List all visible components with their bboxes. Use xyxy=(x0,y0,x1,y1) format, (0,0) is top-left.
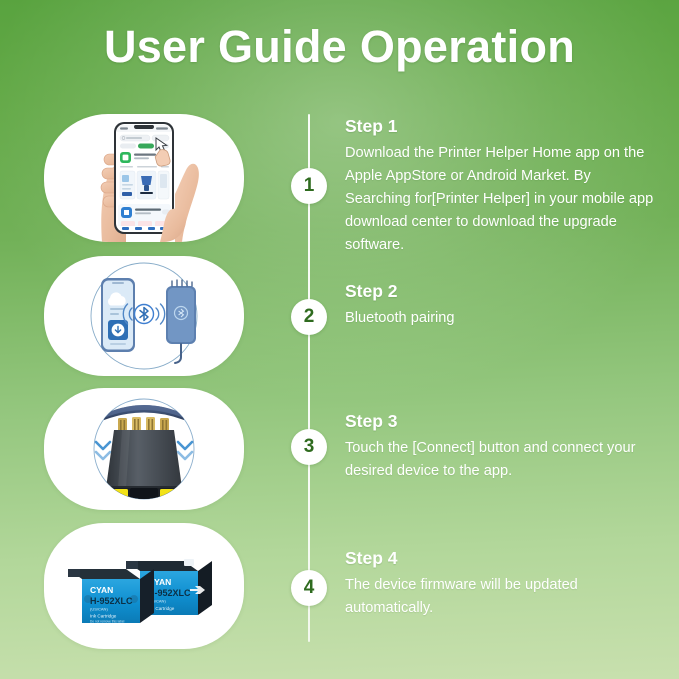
step-body-3: Touch the [Connect] button and connect y… xyxy=(345,437,657,483)
svg-text:Do not remove this label: Do not remove this label xyxy=(90,620,125,624)
cartridge-model-label-front: H-952XLC xyxy=(90,596,133,606)
hand-holding-phone-icon xyxy=(44,114,244,242)
step-1-illustration xyxy=(44,114,244,242)
step-row-4: CYAN H-952XLC (US/CAN) Ink Cartridge CYA… xyxy=(0,520,679,652)
svg-text:(US/CAN): (US/CAN) xyxy=(90,607,108,612)
step-body-2: Bluetooth pairing xyxy=(345,307,657,330)
step-row-1: 1 Step 1 Download the Printer Helper Hom… xyxy=(0,108,679,248)
user-guide-poster: User Guide Operation xyxy=(0,0,679,679)
page-title-wrap: User Guide Operation xyxy=(0,22,679,72)
chip-connector-icon xyxy=(44,388,244,510)
bluetooth-device-icon xyxy=(166,280,196,363)
device-cable xyxy=(175,344,181,363)
ink-cartridges-icon: CYAN H-952XLC (US/CAN) Ink Cartridge CYA… xyxy=(44,523,244,649)
cartridge-color-label-front: CYAN xyxy=(90,585,113,595)
step-number-badge-1: 1 xyxy=(291,168,327,204)
page-title: User Guide Operation xyxy=(104,22,575,72)
step-2-illustration xyxy=(44,256,244,376)
cartridge-model-label-back: H-952XLC xyxy=(148,588,191,598)
step-row-2: 2 Step 2 Bluetooth pairing xyxy=(0,255,679,377)
contact-pins xyxy=(118,417,169,432)
step-4-illustration: CYAN H-952XLC (US/CAN) Ink Cartridge CYA… xyxy=(44,523,244,649)
step-title-4: Step 4 xyxy=(345,548,657,569)
step-number-badge-2: 2 xyxy=(291,299,327,335)
step-3-illustration xyxy=(44,388,244,510)
step-text-3: Step 3 Touch the [Connect] button and co… xyxy=(345,411,657,483)
bluetooth-pairing-icon xyxy=(44,256,244,376)
svg-text:Ink Cartridge: Ink Cartridge xyxy=(90,614,117,619)
step-row-3: 3 Step 3 Touch the [Connect] button and … xyxy=(0,385,679,513)
step-text-2: Step 2 Bluetooth pairing xyxy=(345,281,657,330)
step-title-3: Step 3 xyxy=(345,411,657,432)
step-text-1: Step 1 Download the Printer Helper Home … xyxy=(345,116,657,257)
bluetooth-symbol-icon xyxy=(135,305,154,324)
step-number-badge-3: 3 xyxy=(291,429,327,465)
step-title-2: Step 2 xyxy=(345,281,657,302)
step-body-4: The device firmware will be updated auto… xyxy=(345,574,657,620)
step-number-badge-4: 4 xyxy=(291,570,327,606)
step-text-4: Step 4 The device firmware will be updat… xyxy=(345,548,657,620)
step-title-1: Step 1 xyxy=(345,116,657,137)
step-body-1: Download the Printer Helper Home app on … xyxy=(345,142,657,257)
